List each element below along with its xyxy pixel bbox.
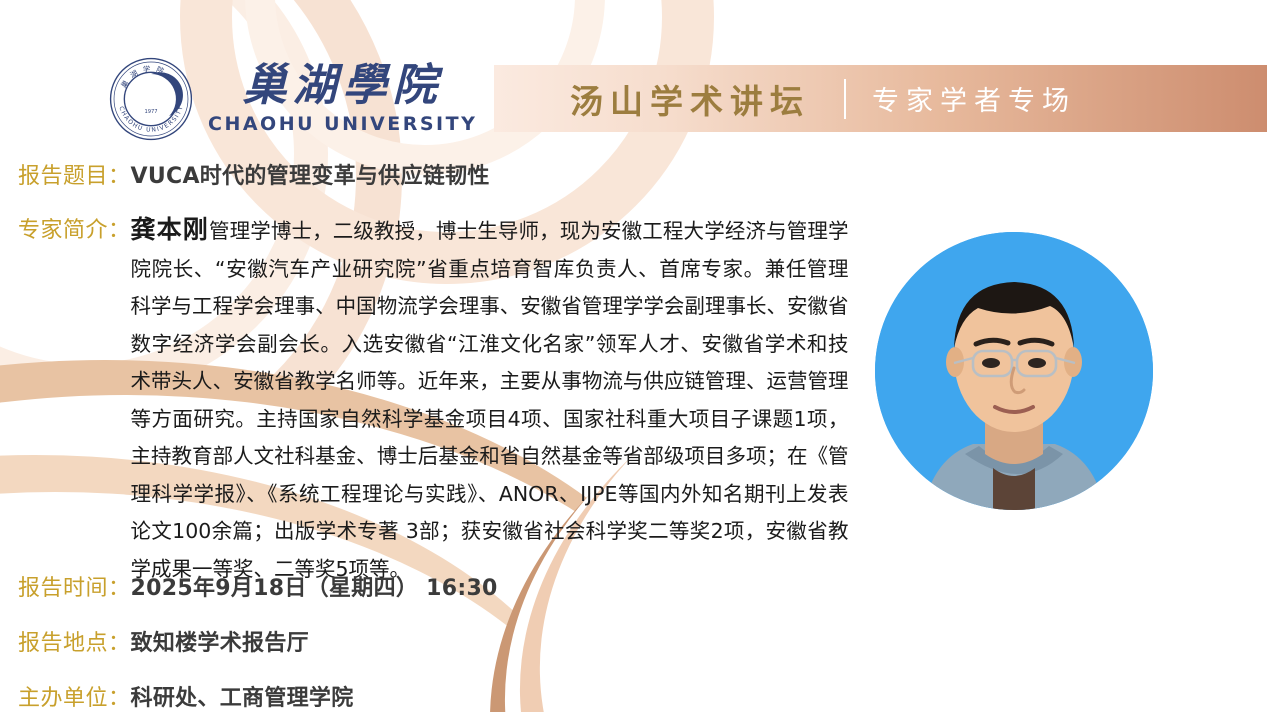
lecture-place-value: 致知楼学术报告厅	[131, 625, 309, 657]
speaker-bio-body: 龚本刚管理学博士，二级教授，博士生导师，现为安徽工程大学经济与管理学院院长、“安…	[131, 211, 849, 588]
speaker-portrait-image	[875, 232, 1153, 510]
svg-text:1977: 1977	[144, 109, 157, 115]
university-logo: 1977 巢湖学院 CHAOHU UNIVERSITY 巢湖學院 CHAOHU …	[108, 56, 477, 142]
university-seal-icon: 1977 巢湖学院 CHAOHU UNIVERSITY	[108, 56, 194, 142]
lecture-place-row: 报告地点： 致知楼学术报告厅	[18, 625, 309, 657]
lecture-host-value: 科研处、工商管理学院	[131, 680, 354, 712]
speaker-bio-row: 专家简介： 龚本刚管理学博士，二级教授，博士生导师，现为安徽工程大学经济与管理学…	[18, 212, 898, 588]
lecture-time-value: 2025年9月18日（星期四） 16:30	[131, 570, 498, 602]
speaker-name: 龚本刚	[131, 215, 209, 244]
university-name-en: CHAOHU UNIVERSITY	[208, 113, 477, 135]
banner-subtitle: 专家学者专场	[872, 79, 1076, 118]
speaker-bio-text: 管理学博士，二级教授，博士生导师，现为安徽工程大学经济与管理学院院长、“安徽汽车…	[131, 219, 849, 581]
banner-divider	[844, 79, 846, 119]
lecture-title-value: VUCA时代的管理变革与供应链韧性	[131, 158, 490, 190]
speaker-portrait	[875, 232, 1153, 510]
lecture-host-row: 主办单位： 科研处、工商管理学院	[18, 680, 354, 712]
lecture-title-label: 报告题目：	[18, 158, 131, 190]
lecture-title-row: 报告题目： VUCA时代的管理变革与供应链韧性	[18, 158, 490, 190]
poster-root: 汤山学术讲坛 专家学者专场 1977 巢湖学院 CHAOHU UNIVERSIT…	[0, 0, 1267, 712]
lecture-time-row: 报告时间： 2025年9月18日（星期四） 16:30	[18, 570, 498, 602]
lecture-host-label: 主办单位：	[18, 680, 131, 712]
lecture-place-label: 报告地点：	[18, 625, 131, 657]
banner-main-title: 汤山学术讲坛	[570, 75, 810, 123]
university-name-block: 巢湖學院 CHAOHU UNIVERSITY	[208, 63, 477, 135]
university-name-cn: 巢湖學院	[243, 63, 443, 109]
speaker-bio-label: 专家简介：	[18, 212, 131, 244]
lecture-time-label: 报告时间：	[18, 570, 131, 602]
header-banner: 汤山学术讲坛 专家学者专场	[494, 65, 1267, 132]
